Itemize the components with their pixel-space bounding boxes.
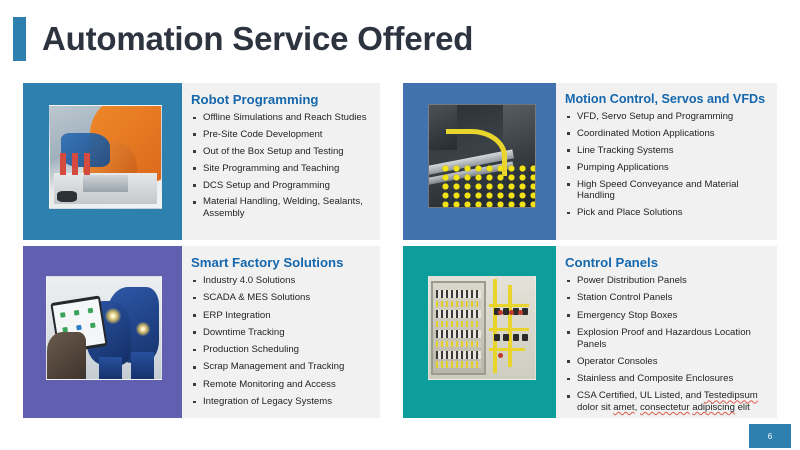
card-media-panel — [403, 246, 556, 418]
page-number-badge: 6 — [749, 424, 791, 448]
list-item: Explosion Proof and Hazardous Location P… — [565, 327, 769, 350]
list-item: Pumping Applications — [565, 162, 769, 174]
bullet-text-middle: dolor sit — [577, 402, 613, 413]
card-control-panels: Control Panels Power Distribution Panels… — [403, 246, 777, 418]
title-bar: Automation Service Offered — [0, 10, 800, 68]
card-smart-factory: Smart Factory Solutions Industry 4.0 Sol… — [23, 246, 380, 418]
list-item: Remote Monitoring and Access — [191, 379, 372, 391]
robot-arm-photo — [49, 105, 162, 209]
list-item: Power Distribution Panels — [565, 275, 769, 287]
list-item: Out of the Box Setup and Testing — [191, 146, 372, 158]
card-media-panel — [403, 83, 556, 240]
list-item-spellchecked: CSA Certified, UL Listed, and Testedipsu… — [565, 390, 769, 413]
list-item: Integration of Legacy Systems — [191, 396, 372, 408]
bullet-list: Power Distribution Panels Station Contro… — [565, 275, 769, 414]
list-item: Offline Simulations and Reach Studies — [191, 112, 372, 124]
list-item: Line Tracking Systems — [565, 145, 769, 157]
title-accent-bar — [13, 17, 26, 61]
bullet-text-prefix: CSA Certified, UL Listed, and — [577, 390, 704, 401]
list-item: Coordinated Motion Applications — [565, 128, 769, 140]
list-item: High Speed Conveyance and Material Handl… — [565, 179, 769, 202]
list-item: VFD, Servo Setup and Programming — [565, 111, 769, 123]
card-body: Motion Control, Servos and VFDs VFD, Ser… — [556, 83, 777, 240]
bullet-list: Offline Simulations and Reach Studies Pr… — [191, 112, 372, 220]
list-item: Scrap Management and Tracking — [191, 361, 372, 373]
card-motion-control: Motion Control, Servos and VFDs VFD, Ser… — [403, 83, 777, 240]
misspelled-word: consectetur — [640, 402, 690, 413]
list-item: Pick and Place Solutions — [565, 207, 769, 219]
bullet-list: VFD, Servo Setup and Programming Coordin… — [565, 111, 769, 219]
card-heading: Motion Control, Servos and VFDs — [565, 92, 769, 106]
slide-canvas: Automation Service Offered Robot Program… — [0, 0, 800, 450]
list-item: Pre-Site Code Development — [191, 129, 372, 141]
card-heading: Robot Programming — [191, 92, 372, 107]
bullet-list: Industry 4.0 Solutions SCADA & MES Solut… — [191, 275, 372, 408]
card-body: Robot Programming Offline Simulations an… — [182, 83, 380, 240]
misspelled-word: adipiscing — [692, 402, 735, 413]
list-item: Material Handling, Welding, Sealants, As… — [191, 196, 372, 219]
list-item: Production Scheduling — [191, 344, 372, 356]
list-item: Emergency Stop Boxes — [565, 310, 769, 322]
list-item: ERP Integration — [191, 310, 372, 322]
tablet-robot-welding-photo — [46, 276, 162, 380]
conveyor-yellow-caps-photo — [428, 104, 536, 208]
page-title: Automation Service Offered — [42, 20, 473, 58]
list-item: DCS Setup and Programming — [191, 180, 372, 192]
card-media-panel — [23, 246, 182, 418]
misspelled-word: Testedipsum — [704, 390, 758, 401]
bullet-text-suffix: elit — [735, 402, 750, 413]
card-robot-programming: Robot Programming Offline Simulations an… — [23, 83, 380, 240]
list-item: Site Programming and Teaching — [191, 163, 372, 175]
card-heading: Control Panels — [565, 255, 769, 270]
list-item: Industry 4.0 Solutions — [191, 275, 372, 287]
list-item: Station Control Panels — [565, 292, 769, 304]
card-body: Control Panels Power Distribution Panels… — [556, 246, 777, 418]
list-item: Stainless and Composite Enclosures — [565, 373, 769, 385]
list-item: Operator Consoles — [565, 356, 769, 368]
card-media-panel — [23, 83, 182, 240]
misspelled-word: amet — [613, 402, 634, 413]
list-item: Downtime Tracking — [191, 327, 372, 339]
list-item: SCADA & MES Solutions — [191, 292, 372, 304]
electrical-control-panel-photo — [428, 276, 536, 380]
card-heading: Smart Factory Solutions — [191, 255, 372, 270]
card-body: Smart Factory Solutions Industry 4.0 Sol… — [182, 246, 380, 418]
